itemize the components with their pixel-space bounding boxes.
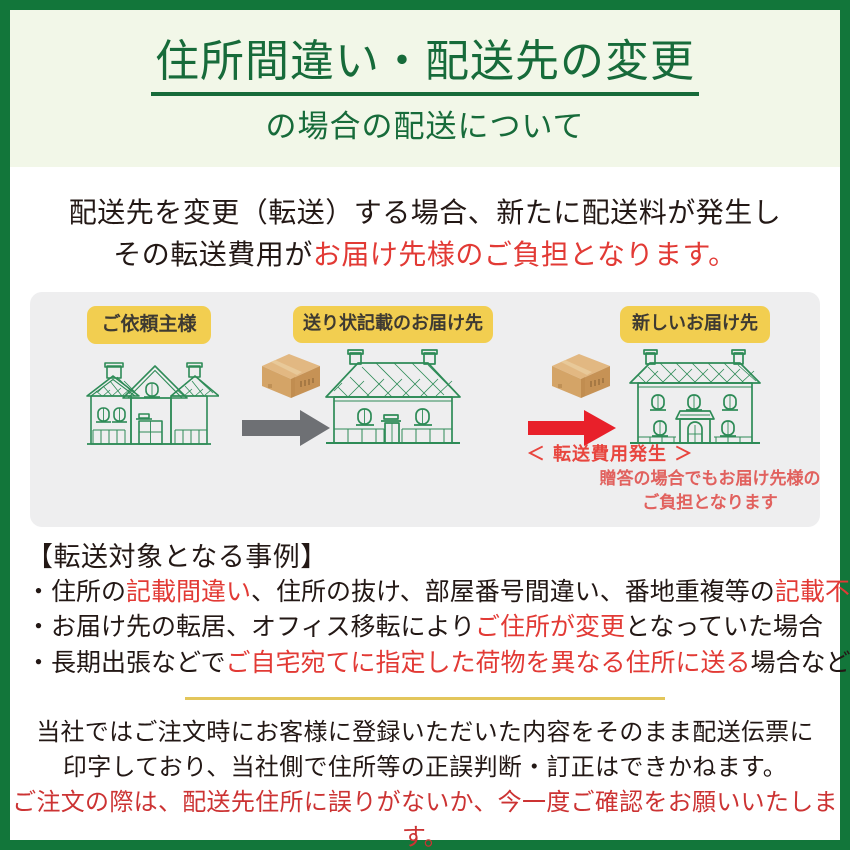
footer-line-2: 印字しており、当社側で住所等の正誤判断・訂正はできかねます。 [63,755,787,781]
lead-line-2: その転送費用がお届け先様のご負担となります。 [10,235,840,276]
section-divider [185,697,665,700]
lead-paragraph: 配送先を変更（転送）する場合、新たに配送料が発生し その転送費用がお届け先様のご… [10,193,840,276]
case-text-part: となっていた場合 [625,614,823,641]
diagram-node-sender: ご依頼主様 [44,292,254,460]
list-item: ・お届け先の転居、オフィス移転によりご住所が変更となっていた場合 [26,610,824,646]
forwarding-cases-section: 【転送対象となる事例】 ・住所の記載間違い、住所の抜け、部屋番号間違い、番地重複… [26,541,824,681]
list-item: ・住所の記載間違い、住所の抜け、部屋番号間違い、番地重複等の記載不備 [26,575,824,611]
case-text-part-highlight: 記載不備 [775,579,850,606]
forwarding-flow-diagram: ご依頼主様 [30,292,820,527]
header-band: 住所間違い・配送先の変更 の場合の配送について [10,10,840,167]
lead-line-1: 配送先を変更（転送）する場合、新たに配送料が発生し [10,193,840,234]
diagram-node-new-destination: 新しいお届け先 [590,292,800,457]
house-icon [624,349,766,457]
page-subtitle: の場合の配送について [10,108,840,145]
bullet-marker: ・ [26,650,51,677]
case-text-part: 住所の [51,579,126,606]
case-text-part-highlight: 記載間違い [126,579,251,606]
node-label-sender: ご依頼主様 [87,306,210,344]
burden-note-line-2: ご負担となります [642,493,778,513]
burden-note: 贈答の場合でもお届け先様の ご負担となります [570,467,850,515]
house-icon [79,350,219,460]
house-icon [318,349,468,457]
footer-line-1: 当社ではご注文時にお客様に登録いただいた内容をそのまま配送伝票に [36,720,814,746]
bullet-marker: ・ [26,579,51,606]
footer-warning: ご注文の際は、配送先住所に誤りがないか、今一度ご確認をお願いいたします。 [10,786,840,856]
page-title: 住所間違い・配送先の変更 [151,36,699,96]
case-text-part: お届け先の転居、オフィス移転により [51,614,475,641]
diagram-node-original-destination: 送り状記載のお届け先 [288,292,498,457]
bullet-marker: ・ [26,614,51,641]
case-text-part-highlight: ご自宅宛てに指定した荷物を異なる住所に送る [226,650,751,677]
node-label-original-destination: 送り状記載のお届け先 [293,306,493,343]
case-text-part: 場合など [751,650,850,677]
burden-note-line-1: 贈答の場合でもお届け先様の [600,469,821,489]
lead-line-2-highlight: お届け先様のご負担となります。 [313,240,737,271]
case-text-part-highlight: ご住所が変更 [475,614,625,641]
case-text-part: 、住所の抜け、部屋番号間違い、番地重複等の [251,579,775,606]
list-item: ・長期出張などでご自宅宛てに指定した荷物を異なる住所に送る場合など [26,646,824,682]
footer-note: 当社ではご注文時にお客様に登録いただいた内容をそのまま配送伝票に 印字しており、… [10,716,840,856]
lead-line-2-plain: その転送費用が [113,240,313,271]
cases-heading: 【転送対象となる事例】 [26,541,824,575]
case-text-part: 長期出張などで [51,650,226,677]
node-label-new-destination: 新しいお届け先 [620,306,770,343]
shipping-address-notice-infographic: 住所間違い・配送先の変更 の場合の配送について 配送先を変更（転送）する場合、新… [0,0,850,850]
